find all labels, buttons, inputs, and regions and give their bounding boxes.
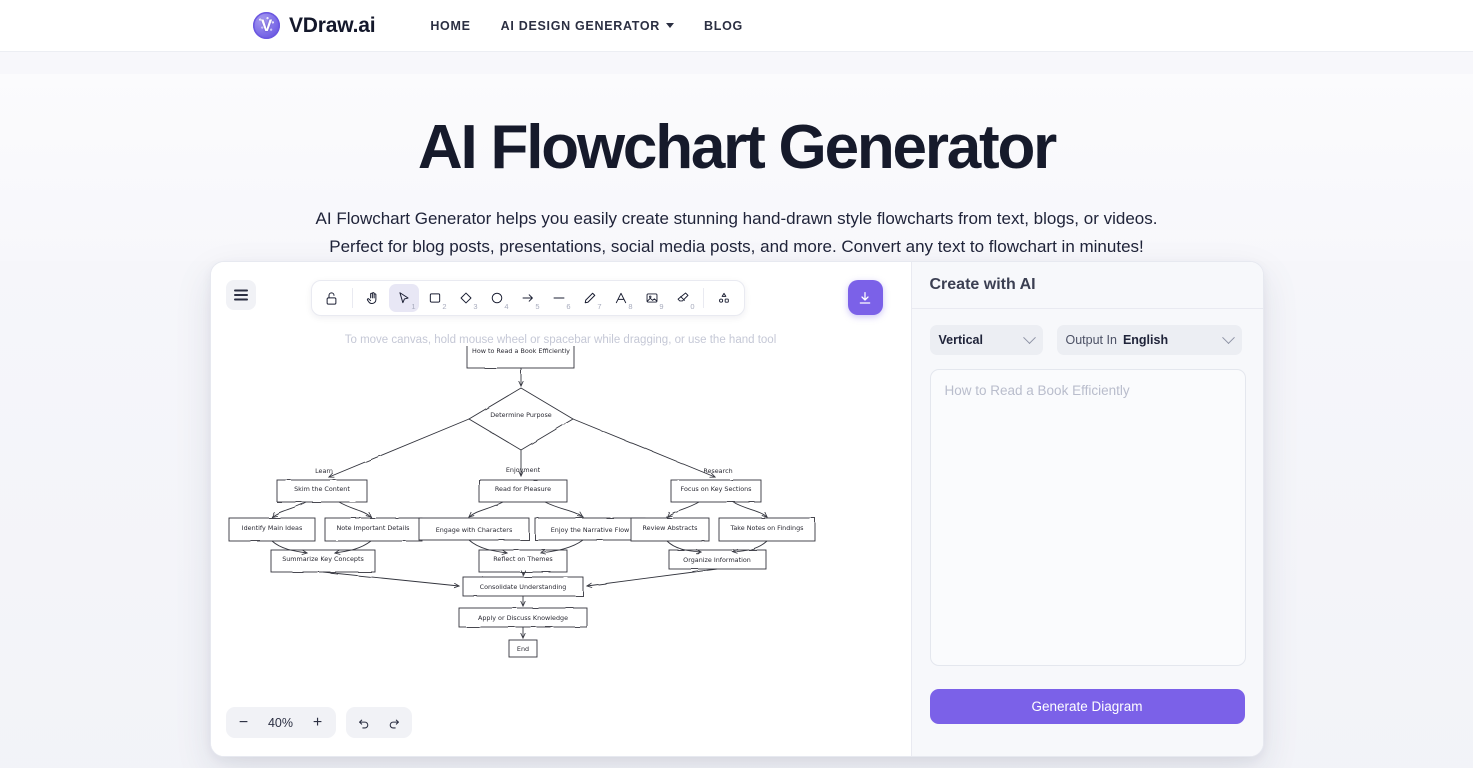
ai-panel-body: Vertical Output In English xyxy=(912,309,1263,671)
hero-section: AI Flowchart Generator AI Flowchart Gene… xyxy=(0,74,1473,261)
ellipse-tool-shortcut: 4 xyxy=(504,303,508,311)
nav-item-home-label: HOME xyxy=(430,19,470,33)
nav-item-ai-design-generator[interactable]: AI DESIGN GENERATOR xyxy=(501,19,674,33)
eraser-tool[interactable]: 0 xyxy=(668,284,698,312)
text-tool-shortcut: 8 xyxy=(628,303,632,311)
brand-logo[interactable]: V VDraw.ai xyxy=(253,12,375,39)
line-tool-shortcut: 6 xyxy=(566,303,570,311)
node-label-apply: Apply or Discuss Knowledge xyxy=(477,614,567,622)
ai-panel-title: Create with AI xyxy=(930,276,1036,294)
node-label-sections: Focus on Key Sections xyxy=(680,485,752,493)
line-tool[interactable]: 6 xyxy=(544,284,574,312)
selection-tool[interactable]: 1 xyxy=(389,284,419,312)
nav-item-blog[interactable]: BLOG xyxy=(704,19,743,33)
logo-glyph: V xyxy=(261,17,272,34)
node-label-purpose: Determine Purpose xyxy=(490,411,552,419)
brand-name: VDraw.ai xyxy=(289,14,375,38)
node-label-pleasure: Read for Pleasure xyxy=(494,485,550,493)
page-title: AI Flowchart Generator xyxy=(0,82,1473,183)
zoom-level[interactable]: 40% xyxy=(260,716,302,730)
edge-label-enjoyment: Enjoyment xyxy=(505,466,540,474)
lock-tool[interactable] xyxy=(317,284,347,312)
eraser-tool-shortcut: 0 xyxy=(690,303,694,311)
nav-item-home[interactable]: HOME xyxy=(430,19,470,33)
toolbar-divider xyxy=(352,288,353,308)
undo-button[interactable] xyxy=(350,709,378,736)
chevron-down-icon xyxy=(1023,331,1036,344)
language-select[interactable]: Output In English xyxy=(1057,325,1242,355)
node-label-details: Note Important Details xyxy=(336,524,410,532)
page-subtitle-line2: Perfect for blog posts, presentations, s… xyxy=(329,237,1144,256)
language-select-value: English xyxy=(1123,333,1168,347)
draw-tool-shortcut: 7 xyxy=(597,303,601,311)
text-tool[interactable]: 8 xyxy=(606,284,636,312)
draw-tool[interactable]: 7 xyxy=(575,284,605,312)
zoom-in-button[interactable]: + xyxy=(304,709,332,736)
shapes-library-tool[interactable] xyxy=(709,284,739,312)
node-label-organize: Organize Information xyxy=(683,556,751,564)
download-button[interactable] xyxy=(848,280,883,315)
node-label-summarize: Summarize Key Concepts xyxy=(282,555,364,563)
node-label-notes: Take Notes on Findings xyxy=(729,524,804,532)
page-subtitle-line1: AI Flowchart Generator helps you easily … xyxy=(316,209,1158,228)
language-select-prefix: Output In xyxy=(1066,333,1117,347)
undo-icon xyxy=(357,716,371,730)
page-stage: AI Flowchart Generator AI Flowchart Gene… xyxy=(0,52,1473,768)
rectangle-tool[interactable]: 2 xyxy=(420,284,450,312)
hamburger-menu-button[interactable] xyxy=(226,280,256,310)
rectangle-tool-shortcut: 2 xyxy=(442,303,446,311)
node-label-themes: Reflect on Themes xyxy=(493,555,553,563)
node-label-narrative: Enjoy the Narrative Flow xyxy=(550,526,628,534)
hamburger-icon xyxy=(234,294,248,296)
node-label-characters: Engage with Characters xyxy=(435,526,512,534)
ai-panel-header: Create with AI xyxy=(912,262,1263,309)
edge-label-research: Research xyxy=(703,467,732,475)
zoom-out-button[interactable]: − xyxy=(230,709,258,736)
node-label-consolidate: Consolidate Understanding xyxy=(479,583,566,591)
nav-item-ai-design-generator-label: AI DESIGN GENERATOR xyxy=(501,19,660,33)
redo-button[interactable] xyxy=(380,709,408,736)
editor-app: 1 2 3 4 xyxy=(210,261,1264,757)
nav-links: HOME AI DESIGN GENERATOR BLOG xyxy=(430,19,743,33)
ellipse-tool[interactable]: 4 xyxy=(482,284,512,312)
orientation-select[interactable]: Vertical xyxy=(930,325,1043,355)
edge-label-learn: Learn xyxy=(315,467,333,475)
ai-panel: Create with AI Vertical Output In Englis… xyxy=(911,262,1263,756)
hand-tool[interactable] xyxy=(358,284,388,312)
download-icon xyxy=(857,290,873,306)
diamond-tool-shortcut: 3 xyxy=(473,303,477,311)
zoom-controls: − 40% + xyxy=(226,707,336,738)
nav-item-blog-label: BLOG xyxy=(704,19,743,33)
arrow-tool-shortcut: 5 xyxy=(535,303,539,311)
flowchart-svg: How to Read a Book Efficiently Determine… xyxy=(211,346,911,682)
logo-icon: V xyxy=(253,12,280,39)
selection-tool-shortcut: 1 xyxy=(411,303,415,311)
node-label-ideas: Identify Main Ideas xyxy=(241,524,302,532)
redo-icon xyxy=(387,716,401,730)
node-label-skim: Skim the Content xyxy=(294,485,350,493)
drawing-toolbar: 1 2 3 4 xyxy=(311,280,745,316)
node-label-start: How to Read a Book Efficiently xyxy=(472,347,570,355)
arrow-tool[interactable]: 5 xyxy=(513,284,543,312)
node-label-abstracts: Review Abstracts xyxy=(642,524,698,532)
flowchart-canvas[interactable]: How to Read a Book Efficiently Determine… xyxy=(211,346,911,682)
prompt-textarea[interactable] xyxy=(930,369,1246,666)
toolbar-divider-2 xyxy=(703,288,704,308)
chevron-down-icon xyxy=(1222,331,1235,344)
image-tool-shortcut: 9 xyxy=(659,303,663,311)
chevron-down-icon xyxy=(666,23,674,28)
orientation-select-value: Vertical xyxy=(939,333,983,347)
generate-diagram-button[interactable]: Generate Diagram xyxy=(930,689,1245,724)
history-controls xyxy=(346,707,412,738)
node-label-end: End xyxy=(516,645,528,653)
canvas-area[interactable]: 1 2 3 4 xyxy=(211,262,911,756)
ai-panel-selects: Vertical Output In English xyxy=(930,325,1245,355)
diamond-tool[interactable]: 3 xyxy=(451,284,481,312)
top-navigation: V VDraw.ai HOME AI DESIGN GENERATOR BLOG xyxy=(0,0,1473,52)
page-subtitle: AI Flowchart Generator helps you easily … xyxy=(257,205,1217,261)
image-tool[interactable]: 9 xyxy=(637,284,667,312)
canvas-hint: To move canvas, hold mouse wheel or spac… xyxy=(211,334,911,346)
